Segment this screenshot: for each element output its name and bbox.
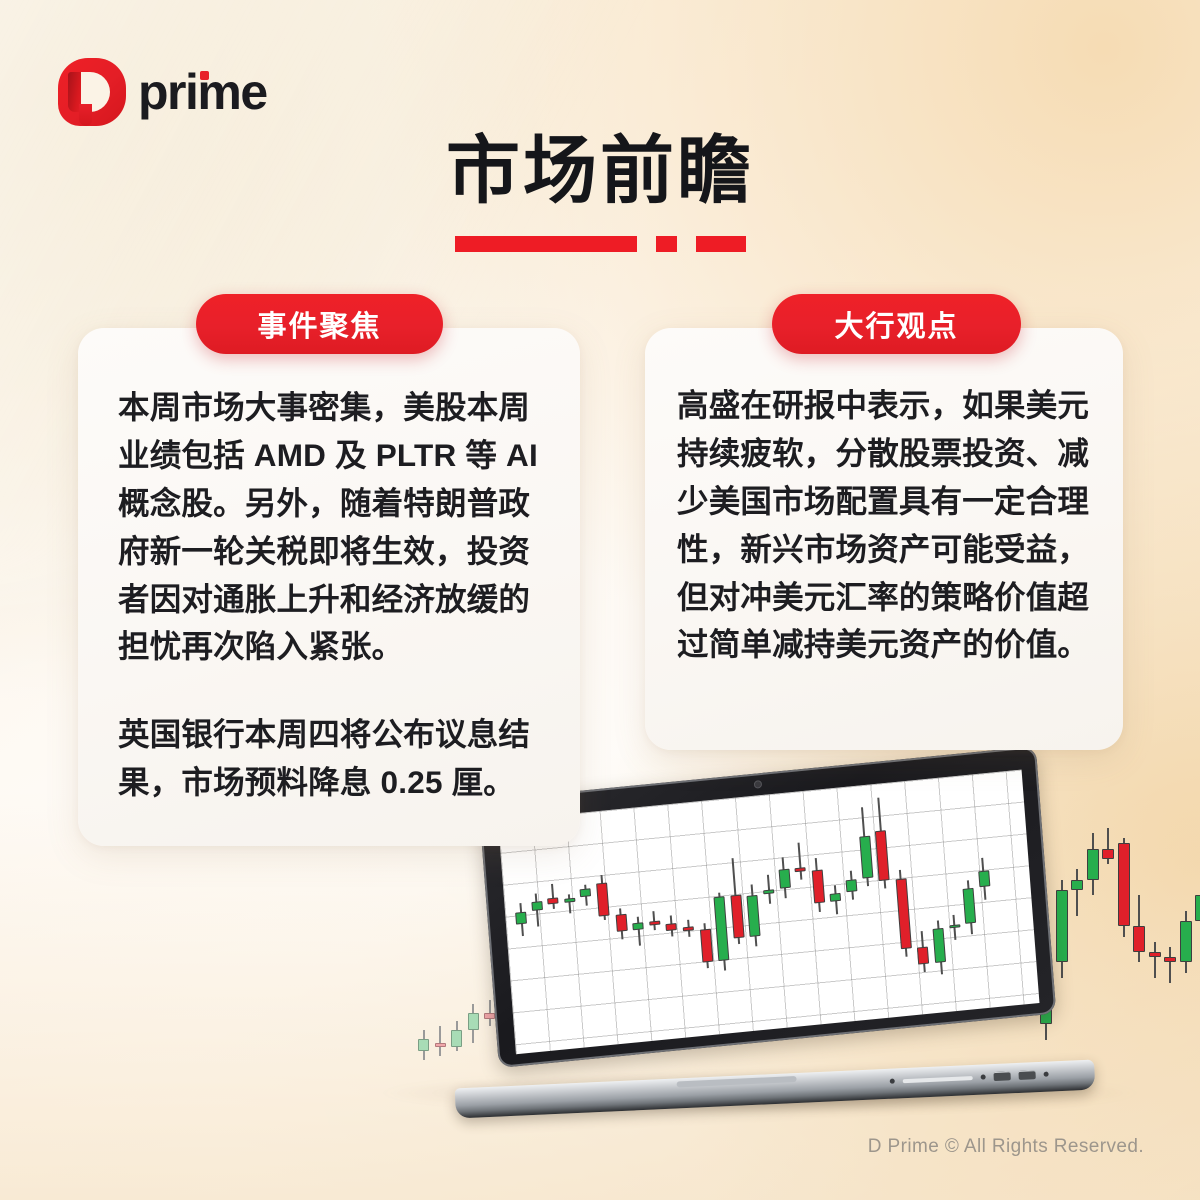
candlestick	[564, 894, 576, 914]
webcam-icon	[754, 780, 763, 789]
candlestick	[948, 914, 961, 940]
underline-segment-dot	[656, 236, 677, 252]
power-led-icon	[890, 1079, 895, 1084]
candlestick	[857, 807, 874, 886]
card-events: 本周市场大事密集，美股本周业绩包括 AMD 及 PLTR 等 AI 概念股。另外…	[78, 328, 580, 846]
candlestick	[811, 857, 826, 912]
laptop-base	[455, 1059, 1096, 1118]
card-slot-icon	[903, 1076, 973, 1083]
candlestick	[514, 903, 527, 937]
candlestick	[699, 922, 713, 968]
page-title: 市场前瞻	[0, 132, 1200, 210]
candlestick	[829, 885, 842, 915]
candlestick	[762, 875, 775, 905]
underline-segment-mid	[696, 236, 746, 252]
candlestick	[648, 911, 660, 931]
card-events-paragraph-2: 英国银行本周四将公布议息结果，市场预料降息 0.25 厘。	[118, 711, 540, 807]
candlestick	[580, 884, 593, 906]
footer-copyright: D Prime © All Rights Reserved.	[868, 1136, 1144, 1158]
brand-wordmark: prime	[138, 67, 267, 117]
card-banks-body: 高盛在研报中表示，如果美元持续疲软，分散股票投资、减少美国市场配置具有一定合理性…	[645, 328, 1123, 699]
card-events-paragraph-1: 本周市场大事密集，美股本周业绩包括 AMD 及 PLTR 等 AI 概念股。另外…	[118, 384, 540, 671]
candlestick	[932, 920, 947, 975]
underline-segment-long	[455, 236, 637, 252]
port-dot-icon	[981, 1074, 986, 1079]
candlestick	[546, 883, 559, 909]
candlestick	[665, 915, 678, 937]
candlestick	[682, 920, 694, 938]
candlestick	[615, 908, 628, 940]
usb-port-icon	[993, 1071, 1010, 1081]
candlestick	[873, 797, 891, 889]
brand-logo[interactable]: prime	[58, 58, 267, 126]
card-events-body: 本周市场大事密集，美股本周业绩包括 AMD 及 PLTR 等 AI 概念股。另外…	[78, 328, 580, 841]
laptop-illustration	[455, 800, 1095, 1110]
candlestick	[793, 842, 807, 880]
candlestick	[746, 884, 762, 947]
candlestick	[845, 871, 858, 901]
title-block: 市场前瞻	[0, 132, 1200, 252]
candlestick	[595, 874, 609, 920]
card-badge-events: 事件聚焦	[196, 294, 443, 354]
candlestick	[977, 858, 991, 900]
candlestick	[530, 893, 543, 927]
wordmark-dot-icon	[200, 71, 209, 80]
candlestick	[895, 870, 913, 958]
candlestick	[713, 892, 730, 971]
laptop-ports	[890, 1070, 1049, 1086]
usb-port-icon	[1018, 1070, 1035, 1080]
candlestick	[962, 880, 977, 935]
d-prime-logo-icon	[58, 58, 126, 126]
title-underline	[0, 236, 1200, 252]
card-banks-paragraph-1: 高盛在研报中表示，如果美元持续疲软，分散股票投资、减少美国市场配置具有一定合理性…	[677, 382, 1093, 669]
laptop-base-notch	[676, 1076, 796, 1087]
card-banks: 高盛在研报中表示，如果美元持续疲软，分散股票投资、减少美国市场配置具有一定合理性…	[645, 328, 1123, 750]
port-dot-icon	[1043, 1072, 1048, 1077]
candlestick	[632, 916, 645, 946]
candlestick	[916, 930, 930, 972]
candlestick	[727, 857, 745, 945]
candlestick	[777, 856, 791, 898]
card-badge-banks: 大行观点	[772, 294, 1021, 354]
